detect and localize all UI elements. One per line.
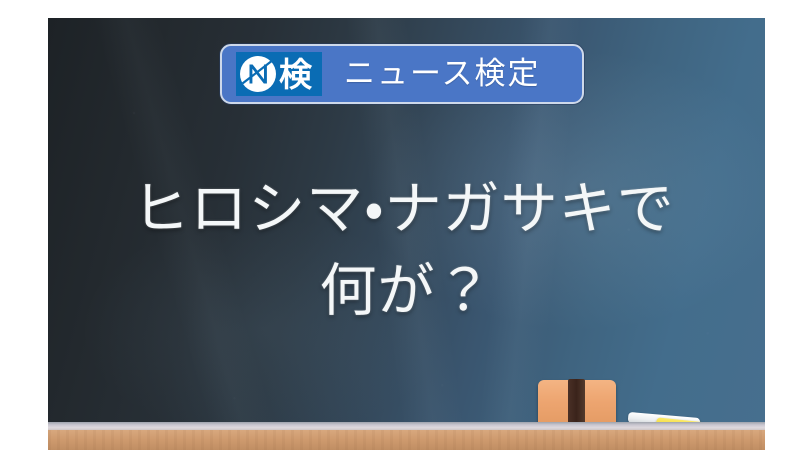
program-logo-kanji: 検 (279, 58, 312, 91)
headline-line-1: ヒロシマ・ナガサキで (48, 168, 765, 250)
blackboard: 検 ニュース検定 ヒロシマ・ナガサキで 何が？ (48, 18, 765, 450)
news-kentei-n-circle-icon (238, 54, 278, 94)
program-badge: 検 ニュース検定 (220, 44, 584, 104)
program-title: ニュース検定 (344, 59, 540, 90)
blackboard-eraser (538, 380, 616, 428)
ledge-wood-surface (48, 430, 765, 450)
program-logo: 検 (236, 52, 322, 96)
ledge-metal-lip (48, 422, 765, 430)
slide-canvas: 検 ニュース検定 ヒロシマ・ナガサキで 何が？ (0, 0, 800, 450)
headline-line-2: 何が？ (48, 250, 765, 332)
headline: ヒロシマ・ナガサキで 何が？ (48, 168, 765, 332)
chalk-ledge (48, 422, 765, 450)
